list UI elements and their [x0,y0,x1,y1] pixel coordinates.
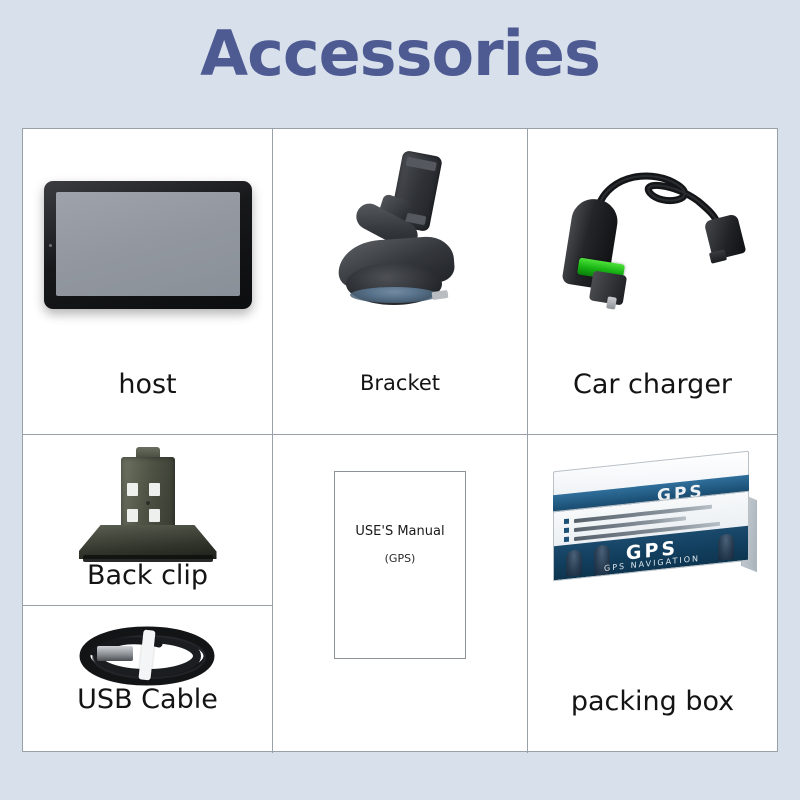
accessories-grid-panel: host Bracket [22,128,778,752]
box-person-silhouette [566,549,582,577]
clip-center-screw [146,501,150,505]
user-manual-booklet: USE'S Manual (GPS) [334,471,466,659]
car-charger-illustration [528,129,777,369]
manual-subtitle: (GPS) [335,552,465,565]
car-charger-green-band [558,155,748,315]
coiled-usb-cable [63,624,233,692]
bracket-suction-rim [350,287,438,303]
cell-host[interactable]: host [23,129,272,434]
charger-center-pin [606,296,617,309]
host-illustration [23,129,272,369]
bullet-square-icon [564,537,569,543]
cell-packing-box[interactable]: GPS GPS SMART NAVIGATION [528,435,777,753]
packing-box-illustration: GPS GPS SMART NAVIGATION [528,435,777,686]
bracket-release-tab [432,290,449,300]
back-clip-plate [73,447,223,565]
host-screen [56,192,240,296]
clip-slot [127,483,138,496]
page-title: Accessories [0,18,800,89]
cell-usb-cable[interactable]: USB Cable [23,606,272,753]
caption-bracket: Bracket [273,371,527,395]
box-person-silhouette [718,533,734,561]
clip-foot-base [79,525,217,559]
clip-base-edge [83,555,213,562]
suction-cup-bracket [320,151,480,321]
cell-back-clip[interactable]: Back clip [23,435,272,605]
cell-bracket[interactable]: Bracket [273,129,527,434]
manual-illustration: USE'S Manual (GPS) [273,435,527,753]
clip-slot [149,483,160,496]
back-clip-illustration [23,435,272,560]
bracket-illustration [273,129,527,371]
bullet-square-icon [564,519,569,525]
caption-host: host [23,369,272,400]
bullet-square-icon [564,528,569,534]
usb-connector-head [97,646,133,661]
gps-packing-box: GPS GPS SMART NAVIGATION [545,457,761,583]
cell-manual[interactable]: USE'S Manual (GPS) [273,435,527,753]
caption-car-charger: Car charger [528,369,777,400]
host-sensor-dot [49,244,52,247]
clip-slot [127,509,138,522]
usb-cable-illustration [23,606,272,684]
caption-packing-box: packing box [528,686,777,717]
cell-car-charger[interactable]: Car charger [528,129,777,434]
clip-slot [149,509,160,522]
gps-host-device [44,181,252,309]
manual-title: USE'S Manual [335,524,465,539]
